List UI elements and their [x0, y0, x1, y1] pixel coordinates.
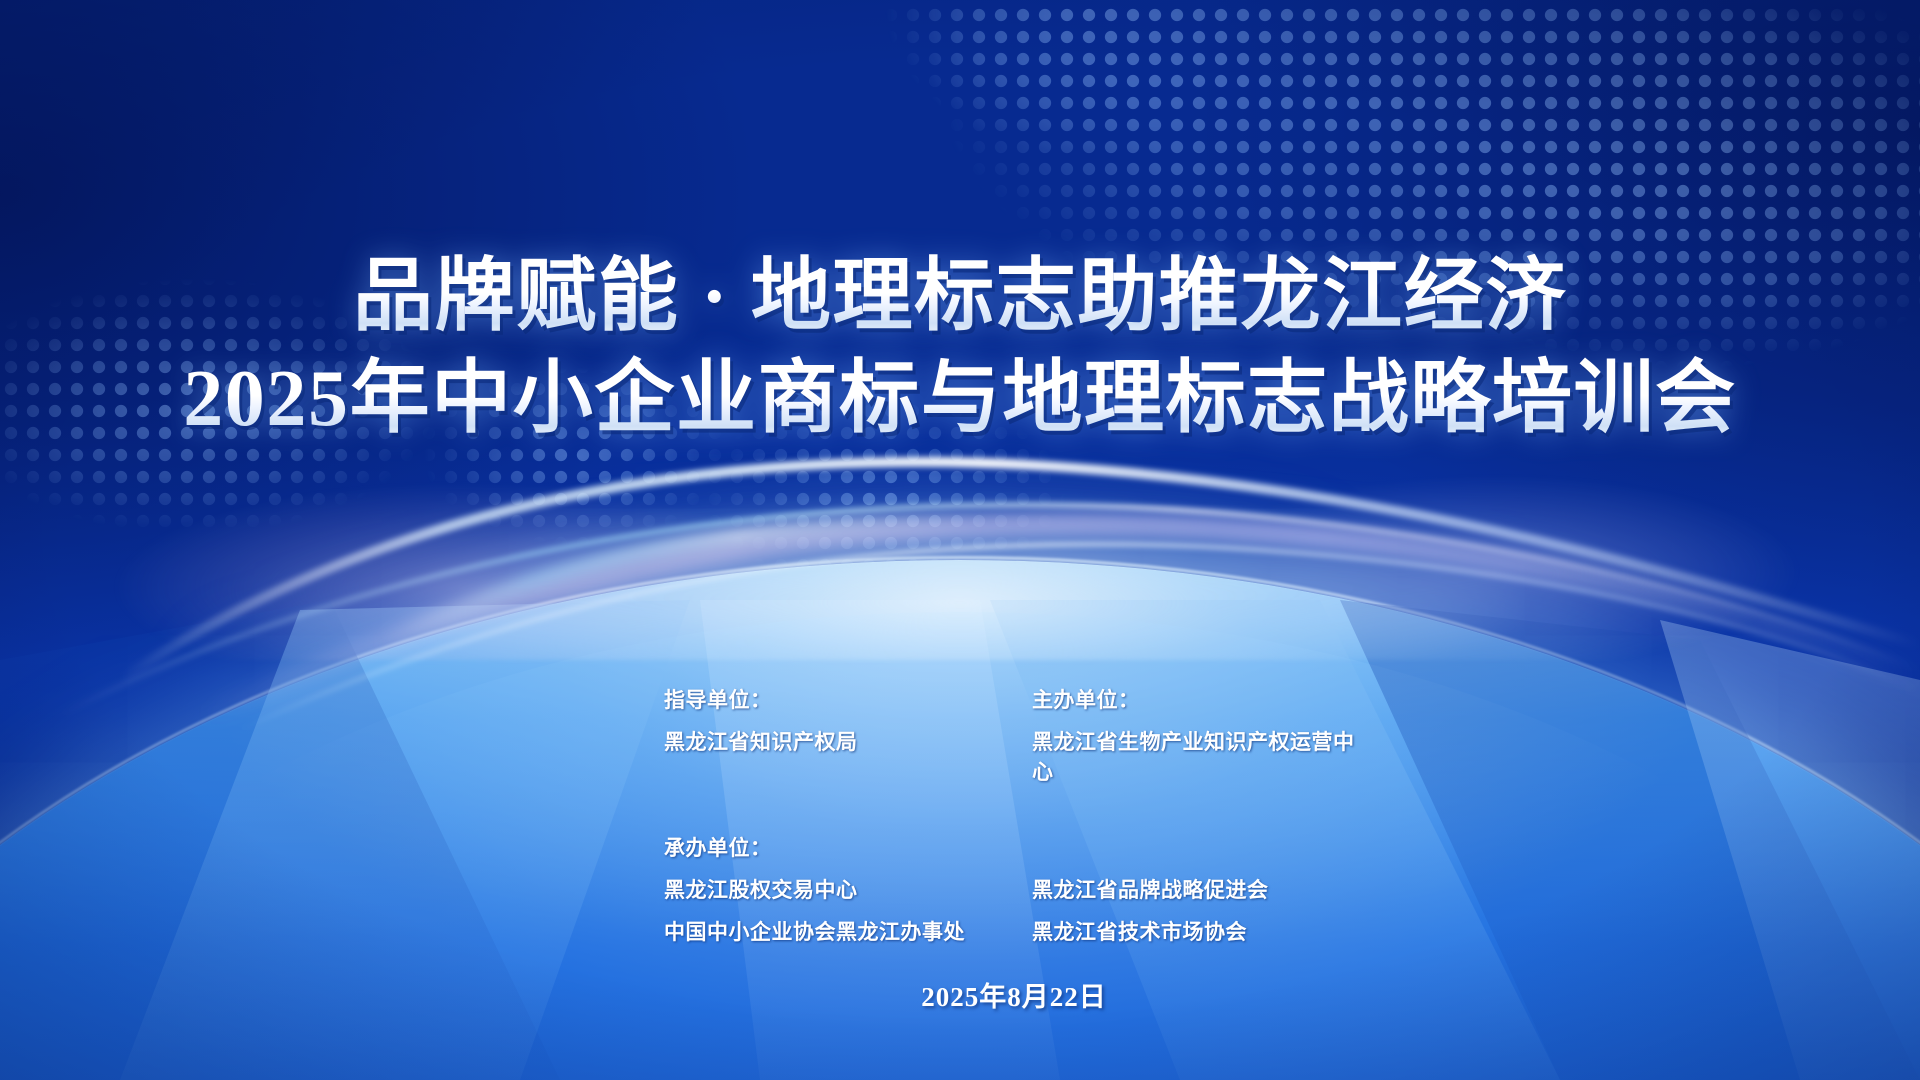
- poster-canvas: 品牌赋能 · 地理标志助推龙江经济 2025年中小企业商标与地理标志战略培训会 …: [0, 0, 1920, 1080]
- guidance-unit-name: 黑龙江省知识产权局: [664, 726, 1032, 786]
- org-group-organizers: 承办单位： 黑龙江股权交易中心 黑龙江省品牌战略促进会 中国中小企业协会黑龙江办…: [664, 832, 1364, 946]
- host-unit-name: 黑龙江省生物产业知识产权运营中心: [1032, 726, 1364, 786]
- org-row: 中国中小企业协会黑龙江办事处 黑龙江省技术市场协会: [664, 916, 1364, 946]
- org-row: 指导单位： 主办单位：: [664, 684, 1364, 714]
- title-block: 品牌赋能 · 地理标志助推龙江经济 2025年中小企业商标与地理标志战略培训会: [0, 250, 1920, 447]
- title-line-1: 品牌赋能 · 地理标志助推龙江经济: [0, 250, 1920, 344]
- event-date: 2025年8月22日: [664, 975, 1364, 1014]
- org-row: 承办单位：: [664, 832, 1364, 862]
- poster-content: 品牌赋能 · 地理标志助推龙江经济 2025年中小企业商标与地理标志战略培训会 …: [0, 0, 1920, 1080]
- organizer-name-3: 中国中小企业协会黑龙江办事处: [664, 916, 1032, 946]
- org-row: 黑龙江省知识产权局 黑龙江省生物产业知识产权运营中心: [664, 726, 1364, 786]
- title-line-2: 2025年中小企业商标与地理标志战略培训会: [0, 352, 1920, 446]
- organizer-unit-label-right: [1032, 832, 1364, 862]
- organizer-name-2: 黑龙江省品牌战略促进会: [1032, 874, 1364, 904]
- host-unit-label: 主办单位：: [1032, 684, 1364, 714]
- guidance-unit-label: 指导单位：: [664, 684, 1032, 714]
- organizer-name-4: 黑龙江省技术市场协会: [1032, 916, 1364, 946]
- org-group-guidance-and-host: 指导单位： 主办单位： 黑龙江省知识产权局 黑龙江省生物产业知识产权运营中心: [664, 684, 1364, 786]
- organizations-block: 指导单位： 主办单位： 黑龙江省知识产权局 黑龙江省生物产业知识产权运营中心 承…: [664, 684, 1364, 992]
- organizer-name-1: 黑龙江股权交易中心: [664, 874, 1032, 904]
- org-row: 黑龙江股权交易中心 黑龙江省品牌战略促进会: [664, 874, 1364, 904]
- organizer-unit-label: 承办单位：: [664, 832, 1032, 862]
